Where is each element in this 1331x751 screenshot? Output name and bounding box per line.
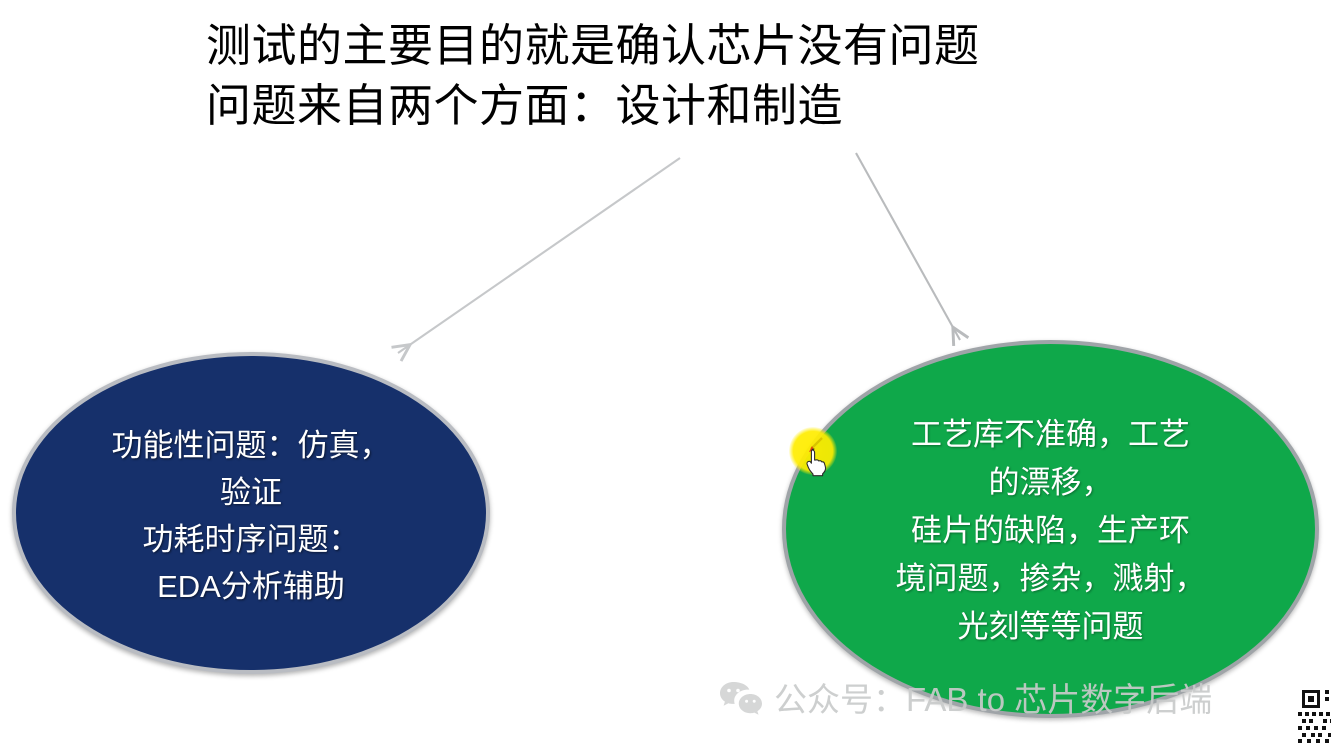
page-title: 测试的主要目的就是确认芯片没有问题 问题来自两个方面：设计和制造 [206, 16, 1206, 136]
manufacturing-line-5: 光刻等等问题 [823, 603, 1278, 651]
watermark-text: 公众号：FAB to 芯片数字后端 [774, 680, 1212, 720]
manufacturing-line-2: 的漂移， [823, 459, 1278, 507]
design-problems-ellipse[interactable]: 功能性问题：仿真， 验证 功耗时序问题： EDA分析辅助 [12, 352, 490, 674]
arrow-to-design-ellipse [398, 158, 680, 353]
slide-canvas: 测试的主要目的就是确认芯片没有问题 问题来自两个方面：设计和制造 功能性问题：仿… [0, 0, 1331, 751]
wechat-icon [718, 680, 764, 720]
design-line-2: 验证 [35, 469, 467, 516]
design-line-4: EDA分析辅助 [35, 563, 467, 610]
arrow-to-manufacturing-ellipse [856, 153, 960, 340]
manufacturing-problems-text: 工艺库不准确，工艺 的漂移， 硅片的缺陷，生产环 境问题，掺杂，溅射， 光刻等等… [823, 411, 1278, 651]
title-line-1: 测试的主要目的就是确认芯片没有问题 [206, 16, 1206, 76]
design-problems-text: 功能性问题：仿真， 验证 功耗时序问题： EDA分析辅助 [35, 422, 467, 610]
design-line-1: 功能性问题：仿真， [35, 422, 467, 469]
pen-cursor-icon [800, 436, 834, 478]
qr-code-icon [1298, 686, 1331, 744]
manufacturing-line-1: 工艺库不准确，工艺 [823, 411, 1278, 459]
watermark: 公众号：FAB to 芯片数字后端 [718, 672, 1212, 728]
manufacturing-line-4: 境问题，掺杂，溅射， [823, 555, 1278, 603]
title-line-2: 问题来自两个方面：设计和制造 [206, 76, 1206, 136]
manufacturing-problems-ellipse[interactable]: 工艺库不准确，工艺 的漂移， 硅片的缺陷，生产环 境问题，掺杂，溅射， 光刻等等… [782, 340, 1319, 718]
manufacturing-line-3: 硅片的缺陷，生产环 [823, 507, 1278, 555]
design-line-3: 功耗时序问题： [35, 516, 467, 563]
